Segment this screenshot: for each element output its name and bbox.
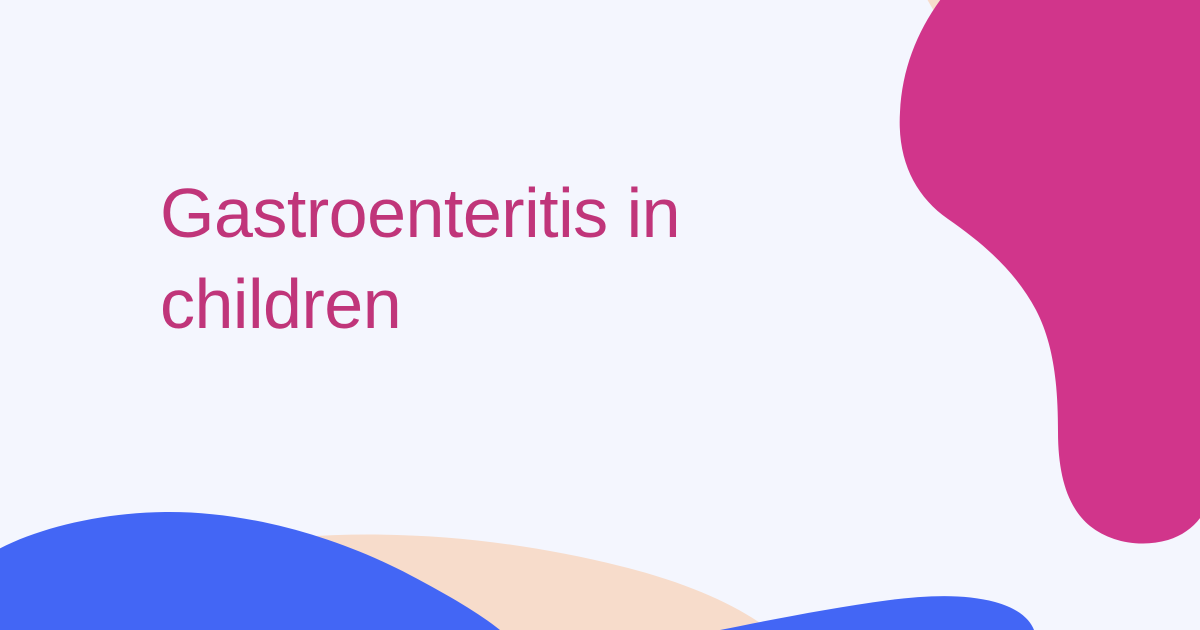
peach-shade-top-right-blob-shape	[960, 39, 1200, 228]
title-block: Gastroenteritis in children	[160, 168, 800, 350]
page-title: Gastroenteritis in children	[160, 168, 800, 350]
magenta-right-blob-shape	[900, 0, 1200, 544]
blue-bottom-right-blob-shape	[720, 596, 1034, 630]
peach-bottom-wave-shape	[0, 535, 770, 630]
peach-top-right-blob-shape	[922, 0, 1200, 222]
blue-bottom-left-blob-shape	[0, 512, 500, 630]
og-card: Gastroenteritis in children	[0, 0, 1200, 630]
